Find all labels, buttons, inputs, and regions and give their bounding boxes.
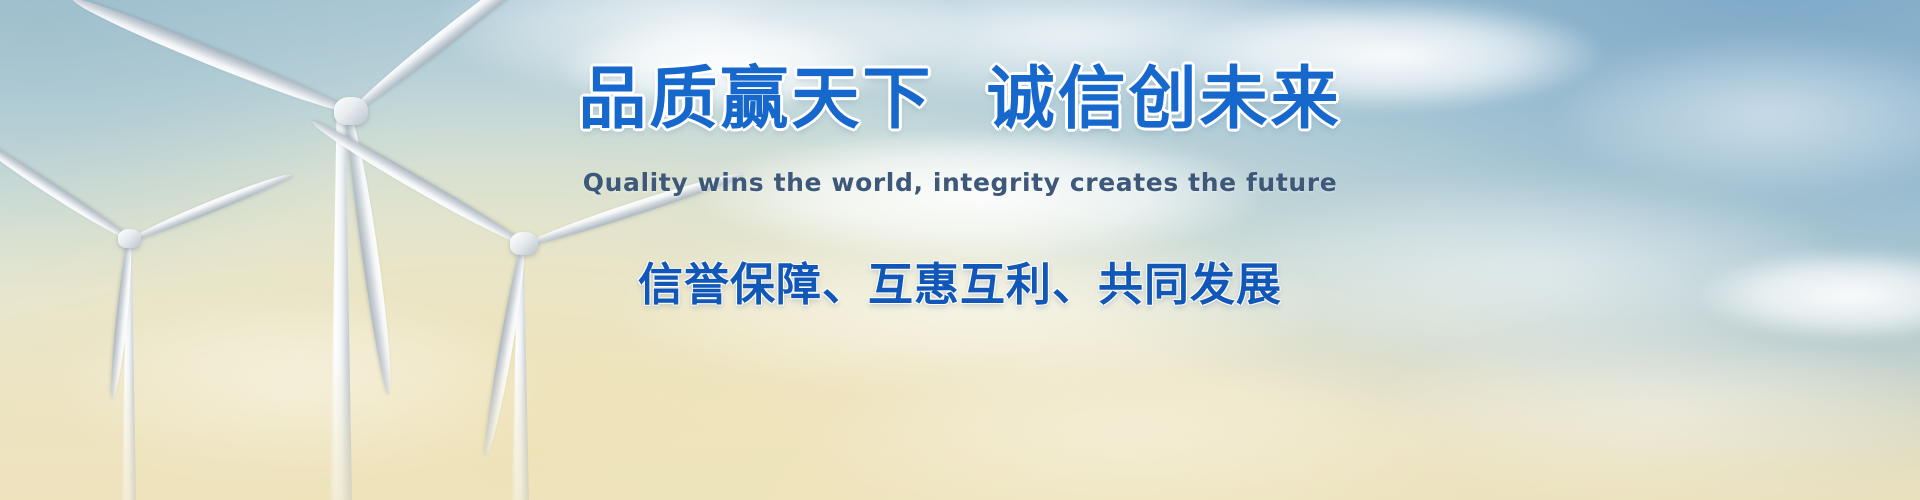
- turbine-hub-primary: [334, 97, 368, 125]
- hero-banner: 品质赢天下 诚信创未来 Quality wins the world, inte…: [0, 0, 1920, 500]
- turbine-blade-distant-upright: [128, 169, 294, 245]
- turbine-blade-distant-upleft: [0, 134, 133, 245]
- turbine-hub-secondary: [510, 232, 538, 255]
- turbine-hub-distant: [118, 229, 141, 248]
- turbine-blade-primary-right: [345, 0, 568, 118]
- turbine-blade-secondary-upright: [522, 167, 745, 250]
- wind-turbine-group: [0, 0, 1920, 500]
- turbine-tower-primary: [330, 112, 352, 500]
- turbine-blade-primary-upper: [69, 0, 354, 120]
